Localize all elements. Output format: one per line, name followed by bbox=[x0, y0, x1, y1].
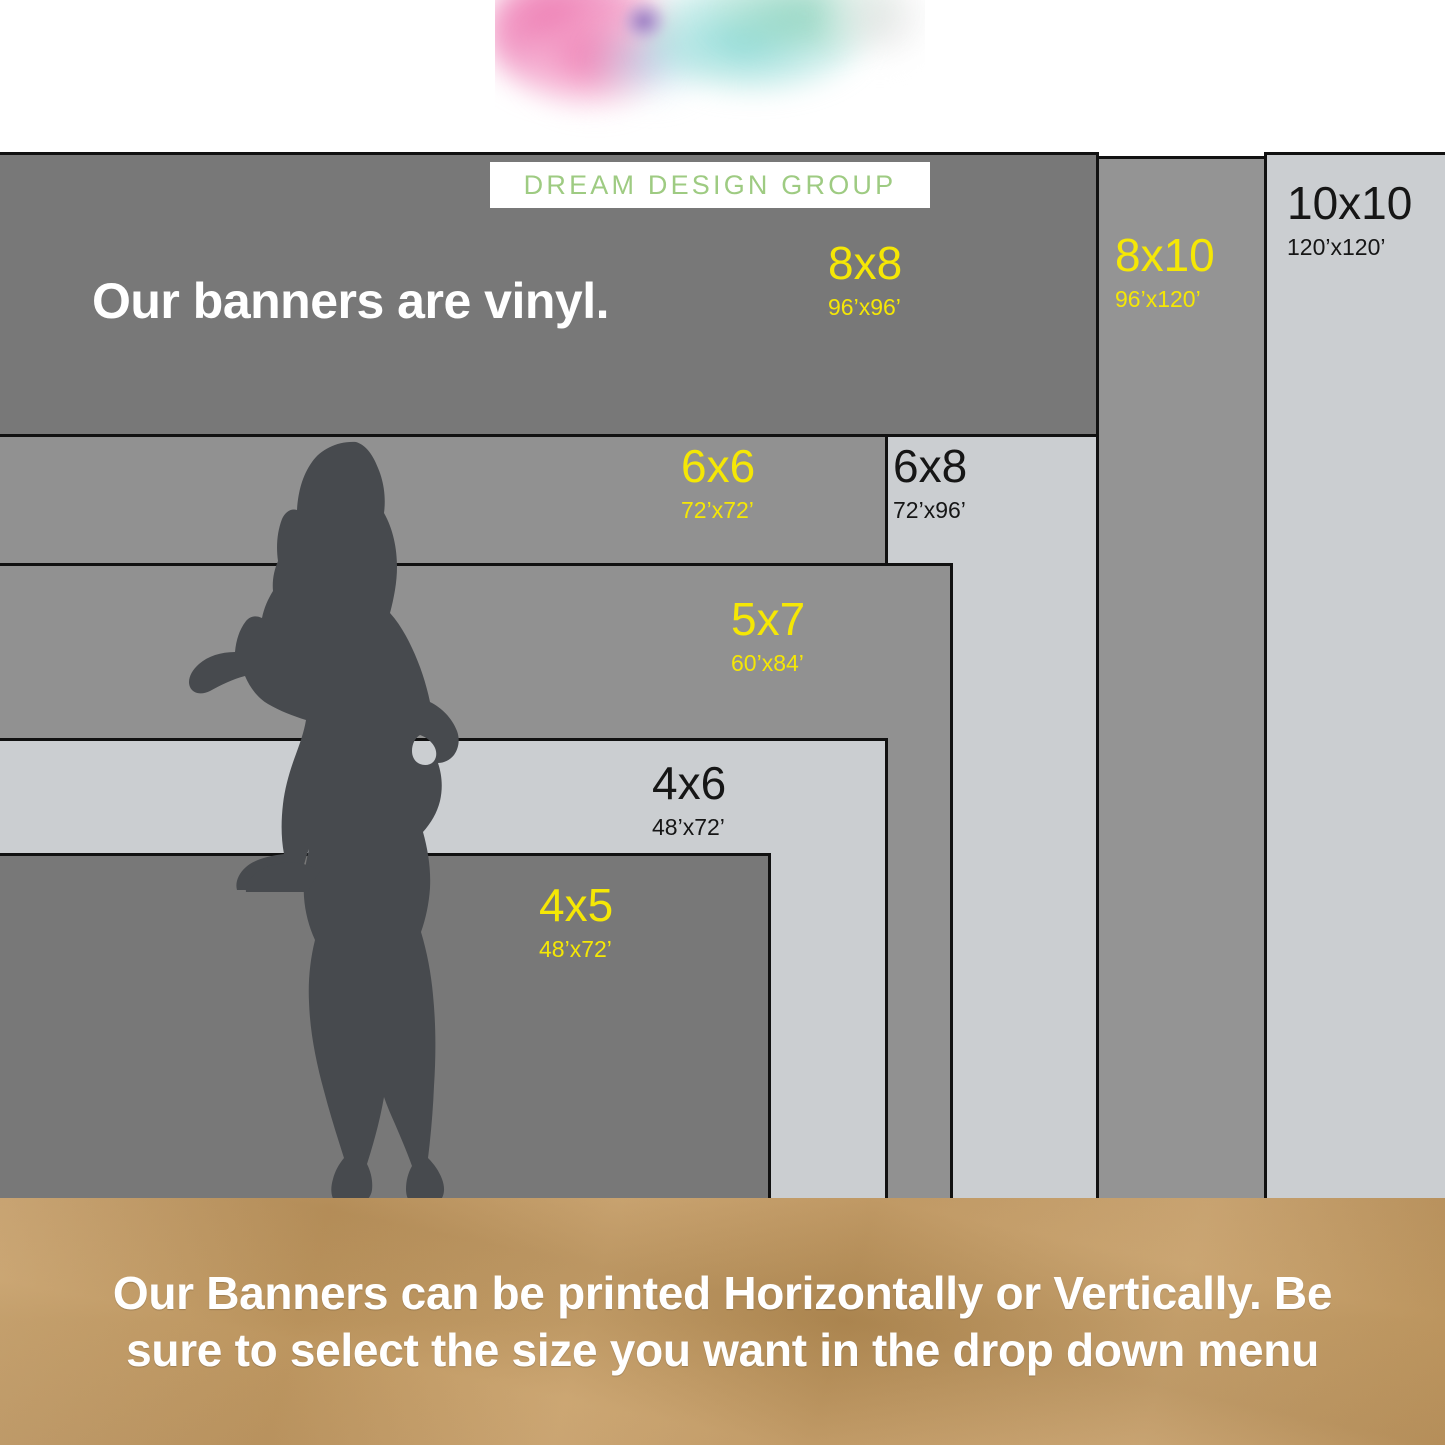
banner-dims-6x6: 72’x72’ bbox=[681, 499, 755, 522]
banner-rect-8x10[interactable] bbox=[1096, 156, 1267, 1201]
brand-name: DREAM DESIGN GROUP bbox=[524, 170, 897, 201]
banner-size-chart: 10x10 120’x120’ 8x10 96’x120’ 6x8 72’x96… bbox=[0, 0, 1445, 1445]
banner-label-10x10: 10x10 120’x120’ bbox=[1287, 180, 1412, 259]
banner-label-5x7: 5x7 60’x84’ bbox=[731, 596, 805, 675]
banner-dims-4x6: 48’x72’ bbox=[652, 816, 726, 839]
banner-rect-4x5[interactable] bbox=[0, 853, 771, 1201]
banner-size-8x10: 8x10 bbox=[1115, 232, 1215, 278]
banner-dims-8x10: 96’x120’ bbox=[1115, 288, 1215, 311]
banner-size-6x6: 6x6 bbox=[681, 443, 755, 489]
banner-label-6x6: 6x6 72’x72’ bbox=[681, 443, 755, 522]
banner-size-10x10: 10x10 bbox=[1287, 180, 1412, 226]
footer-banner: Our Banners can be printed Horizontally … bbox=[0, 1198, 1445, 1445]
banner-size-6x8: 6x8 bbox=[893, 443, 967, 489]
banner-label-8x10: 8x10 96’x120’ bbox=[1115, 232, 1215, 311]
banner-rect-10x10[interactable] bbox=[1264, 152, 1445, 1201]
banner-size-5x7: 5x7 bbox=[731, 596, 805, 642]
brand-name-plate: DREAM DESIGN GROUP bbox=[490, 162, 930, 208]
banner-size-4x5: 4x5 bbox=[539, 882, 613, 928]
banner-size-4x6: 4x6 bbox=[652, 760, 726, 806]
banner-label-4x5: 4x5 48’x72’ bbox=[539, 882, 613, 961]
brand-logo-splash bbox=[495, 0, 925, 150]
banner-size-8x8: 8x8 bbox=[828, 240, 902, 286]
banner-label-8x8: 8x8 96’x96’ bbox=[828, 240, 902, 319]
banner-dims-10x10: 120’x120’ bbox=[1287, 236, 1412, 259]
banner-label-4x6: 4x6 48’x72’ bbox=[652, 760, 726, 839]
banner-dims-4x5: 48’x72’ bbox=[539, 938, 613, 961]
banner-dims-8x8: 96’x96’ bbox=[828, 296, 902, 319]
banner-label-6x8: 6x8 72’x96’ bbox=[893, 443, 967, 522]
banner-dims-5x7: 60’x84’ bbox=[731, 652, 805, 675]
page-headline: Our banners are vinyl. bbox=[92, 272, 609, 330]
banner-dims-6x8: 72’x96’ bbox=[893, 499, 967, 522]
footer-text: Our Banners can be printed Horizontally … bbox=[68, 1265, 1378, 1378]
logo-blob-purple-icon bbox=[623, 2, 665, 40]
